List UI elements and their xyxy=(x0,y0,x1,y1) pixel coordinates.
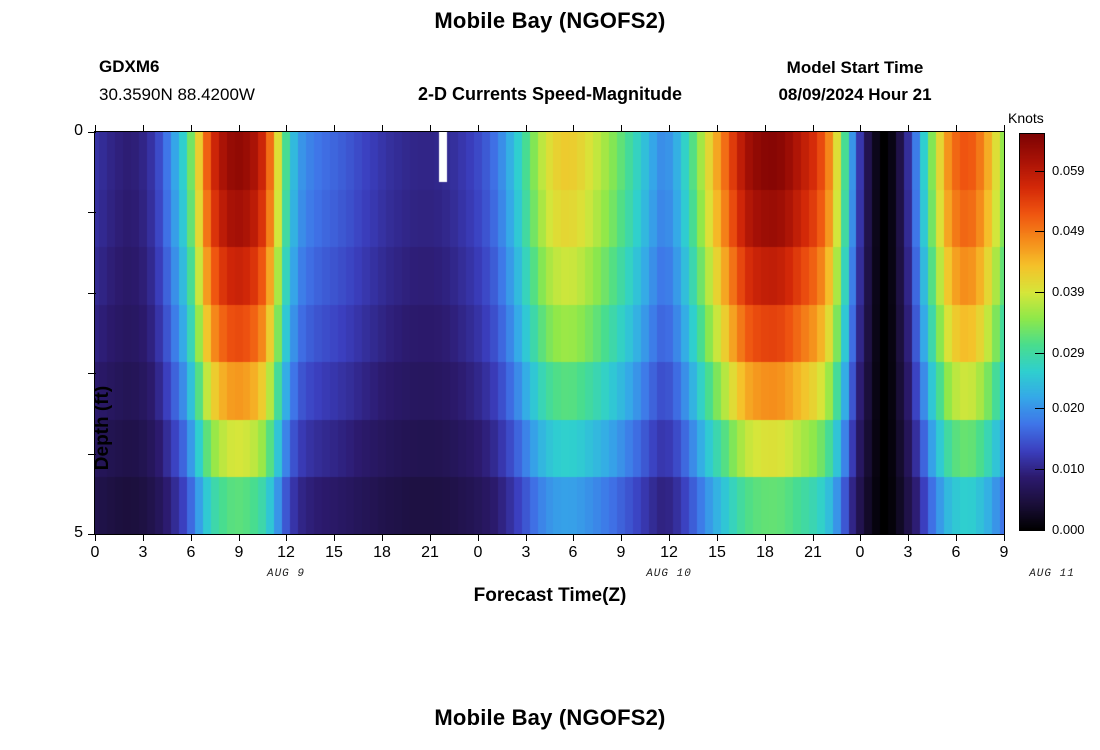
y-axis-tick-mark xyxy=(88,212,96,213)
x-axis-tick-mark-top xyxy=(956,125,957,132)
colorbar-tick-mark xyxy=(1035,292,1044,293)
x-axis-tick-label: 9 xyxy=(601,544,641,562)
x-axis-tick-label: 6 xyxy=(553,544,593,562)
x-axis-tick-mark xyxy=(478,534,479,541)
x-axis-tick-label: 3 xyxy=(888,544,928,562)
y-axis-label: Depth (ft) xyxy=(92,278,114,578)
colorbar-tick-mark xyxy=(1035,469,1044,470)
x-axis-tick-mark xyxy=(573,534,574,541)
x-axis-tick-mark xyxy=(860,534,861,541)
y-axis-tick-mark xyxy=(88,132,96,133)
x-axis-tick-mark-top xyxy=(95,125,96,132)
x-axis-tick-mark-top xyxy=(908,125,909,132)
x-axis-tick-mark xyxy=(430,534,431,541)
x-axis-tick-mark-top xyxy=(669,125,670,132)
colorbar-tick-label: 0.000 xyxy=(1052,522,1100,537)
colorbar-tick-label: 0.049 xyxy=(1052,223,1100,238)
x-axis-tick-mark xyxy=(286,534,287,541)
y-axis-tick-mark xyxy=(88,373,96,374)
colorbar-tick-mark xyxy=(1035,171,1044,172)
x-axis-tick-mark xyxy=(717,534,718,541)
x-axis-tick-mark xyxy=(334,534,335,541)
x-axis-tick-mark-top xyxy=(334,125,335,132)
x-axis-tick-label: 9 xyxy=(984,544,1024,562)
colorbar-tick-mark xyxy=(1035,353,1044,354)
x-axis-tick-mark xyxy=(765,534,766,541)
x-axis-tick-mark xyxy=(908,534,909,541)
colorbar-tick-label: 0.010 xyxy=(1052,461,1100,476)
x-axis-tick-mark-top xyxy=(286,125,287,132)
x-axis-tick-mark xyxy=(669,534,670,541)
x-axis-tick-label: 12 xyxy=(649,544,689,562)
x-axis-tick-mark-top xyxy=(430,125,431,132)
x-axis-tick-mark-top xyxy=(860,125,861,132)
colorbar-canvas xyxy=(1020,134,1044,530)
x-axis-tick-mark-top xyxy=(1004,125,1005,132)
x-axis-tick-label: 3 xyxy=(123,544,163,562)
x-axis-tick-mark-top xyxy=(478,125,479,132)
heatmap-canvas xyxy=(95,132,1004,534)
day-label: AUG 11 xyxy=(1007,568,1097,580)
x-axis-tick-mark-top xyxy=(765,125,766,132)
x-axis-tick-mark-top xyxy=(813,125,814,132)
x-axis-label: Forecast Time(Z) xyxy=(0,585,1100,607)
x-axis-tick-mark xyxy=(143,534,144,541)
x-axis-tick-label: 12 xyxy=(266,544,306,562)
y-axis-tick-mark xyxy=(88,454,96,455)
y-axis-tick-label: 5 xyxy=(43,524,83,542)
heatmap-plot-area: Depth (ft) 05 03691215182103691215182103… xyxy=(94,131,1005,535)
colorbar-tick-label: 0.059 xyxy=(1052,163,1100,178)
x-axis-tick-mark xyxy=(621,534,622,541)
x-axis-tick-mark-top xyxy=(573,125,574,132)
x-axis-tick-mark xyxy=(191,534,192,541)
x-axis-tick-mark-top xyxy=(143,125,144,132)
station-id: GDXM6 xyxy=(99,57,159,77)
y-axis-tick-mark xyxy=(88,293,96,294)
x-axis-tick-mark-top xyxy=(191,125,192,132)
colorbar-title: Knots xyxy=(1008,110,1088,126)
x-axis-tick-mark xyxy=(382,534,383,541)
colorbar-tick-label: 0.039 xyxy=(1052,284,1100,299)
x-axis-tick-label: 0 xyxy=(840,544,880,562)
x-axis-tick-mark xyxy=(956,534,957,541)
x-axis-tick-label: 15 xyxy=(697,544,737,562)
bottom-caption: Mobile Bay (NGOFS2) xyxy=(0,705,1100,731)
day-label: AUG 10 xyxy=(624,568,714,580)
x-axis-tick-label: 15 xyxy=(314,544,354,562)
model-start-time-value: 08/09/2024 Hour 21 xyxy=(700,85,1010,105)
x-axis-tick-mark-top xyxy=(239,125,240,132)
x-axis-tick-mark xyxy=(239,534,240,541)
x-axis-tick-label: 21 xyxy=(793,544,833,562)
x-axis-tick-mark xyxy=(95,534,96,541)
colorbar-tick-label: 0.020 xyxy=(1052,400,1100,415)
x-axis-tick-label: 18 xyxy=(362,544,402,562)
x-axis-tick-mark-top xyxy=(526,125,527,132)
x-axis-tick-label: 3 xyxy=(506,544,546,562)
x-axis-tick-label: 18 xyxy=(745,544,785,562)
colorbar-tick-mark xyxy=(1035,231,1044,232)
day-label: AUG 9 xyxy=(241,568,331,580)
x-axis-tick-mark xyxy=(1004,534,1005,541)
x-axis-tick-label: 0 xyxy=(75,544,115,562)
x-axis-tick-mark xyxy=(526,534,527,541)
x-axis-tick-mark xyxy=(813,534,814,541)
x-axis-tick-mark-top xyxy=(717,125,718,132)
x-axis-tick-mark-top xyxy=(382,125,383,132)
y-axis-tick-label: 0 xyxy=(43,122,83,140)
x-axis-tick-label: 0 xyxy=(458,544,498,562)
page-title: Mobile Bay (NGOFS2) xyxy=(0,8,1100,34)
colorbar-tick-label: 0.029 xyxy=(1052,345,1100,360)
x-axis-tick-mark-top xyxy=(621,125,622,132)
colorbar: 0.0000.0100.0200.0290.0390.0490.059 xyxy=(1019,133,1045,531)
colorbar-tick-mark xyxy=(1035,408,1044,409)
model-start-time-label: Model Start Time xyxy=(700,58,1010,78)
colorbar-tick-mark xyxy=(1035,530,1044,531)
x-axis-tick-label: 6 xyxy=(171,544,211,562)
x-axis-tick-label: 21 xyxy=(410,544,450,562)
x-axis-tick-label: 9 xyxy=(219,544,259,562)
x-axis-tick-label: 6 xyxy=(936,544,976,562)
